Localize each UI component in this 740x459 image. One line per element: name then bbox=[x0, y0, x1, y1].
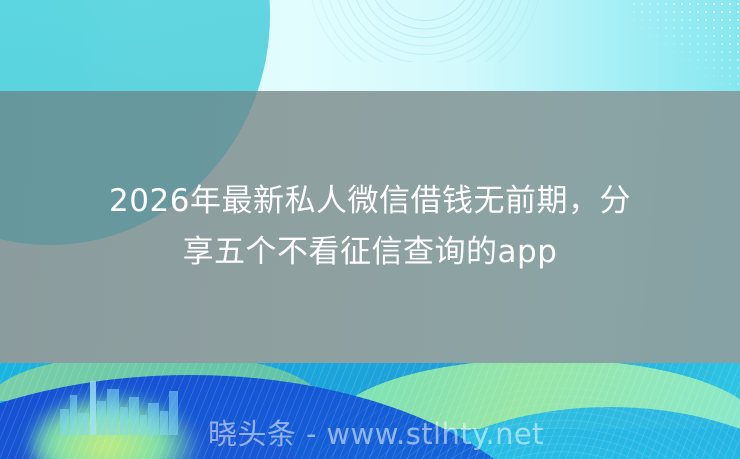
concentric-rings-decoration bbox=[300, 0, 550, 62]
headline-container: 2026年最新私人微信借钱无前期，分 享五个不看征信查询的app bbox=[0, 91, 740, 363]
sky-gradient-background bbox=[0, 0, 740, 92]
headline-line-2: 享五个不看征信查询的app bbox=[183, 227, 558, 278]
site-watermark: 晓头条 - www.stlhty.net bbox=[0, 411, 740, 453]
halftone-dot-grid-decoration bbox=[630, 0, 740, 100]
cover-image-canvas: 2026年最新私人微信借钱无前期，分 享五个不看征信查询的app 晓头条 - w… bbox=[0, 0, 740, 459]
headline-line-1: 2026年最新私人微信借钱无前期，分 bbox=[109, 176, 631, 227]
